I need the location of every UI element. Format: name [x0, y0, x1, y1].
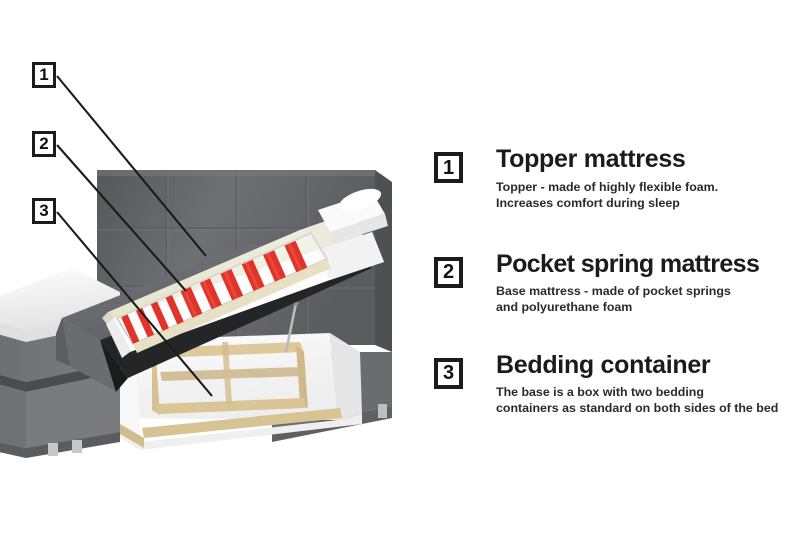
bed-leg	[378, 404, 387, 418]
legend-panel: 1 Topper mattress Topper - made of highl…	[432, 146, 794, 439]
legend-description-3: The base is a box with two bedding conta…	[496, 384, 794, 417]
bed-leg	[72, 440, 82, 453]
legend-item-topper-mattress: 1 Topper mattress Topper - made of highl…	[432, 146, 794, 211]
legend-description-2-line-2: and polyurethane foam	[496, 300, 632, 314]
legend-description-3-line-1: The base is a box with two bedding	[496, 385, 704, 399]
legend-description-2: Base mattress - made of pocket springs a…	[496, 283, 794, 315]
diagram-canvas: 1 2 3 1 Topper mattress Topper - made of…	[0, 0, 800, 533]
legend-title-3: Bedding container	[496, 352, 794, 379]
callout-marker-3: 3	[32, 198, 56, 224]
legend-number-1: 1	[434, 152, 463, 183]
legend-number-2: 2	[434, 257, 463, 288]
legend-item-pocket-spring-mattress: 2 Pocket spring mattress Base mattress -…	[432, 251, 794, 316]
legend-description-3-line-2: containers as standard on both sides of …	[496, 401, 778, 415]
legend-title-2: Pocket spring mattress	[496, 251, 794, 278]
legend-description-1-line-1: Topper - made of highly flexible foam.	[496, 180, 718, 194]
callout-marker-2: 2	[32, 131, 56, 157]
legend-title-1: Topper mattress	[496, 146, 794, 173]
legend-number-3: 3	[434, 358, 463, 389]
legend-item-bedding-container: 3 Bedding container The base is a box wi…	[432, 352, 794, 417]
bed-leg	[48, 443, 58, 456]
legend-description-1: Topper - made of highly flexible foam. I…	[496, 179, 794, 211]
callout-marker-1: 1	[32, 62, 56, 88]
legend-description-1-line-2: Increases comfort during sleep	[496, 196, 680, 210]
legend-description-2-line-1: Base mattress - made of pocket springs	[496, 284, 731, 298]
